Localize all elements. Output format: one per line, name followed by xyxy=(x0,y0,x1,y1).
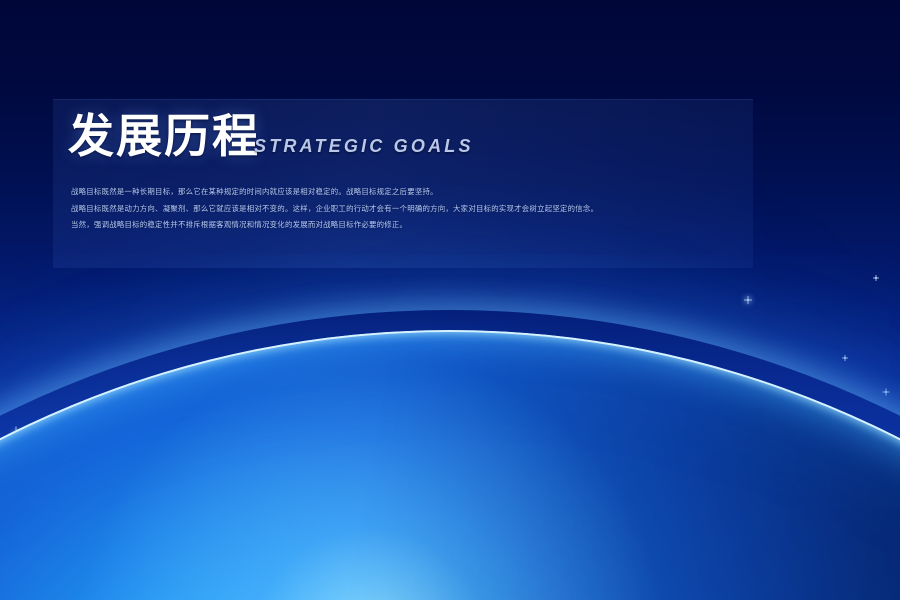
star-right-high-icon xyxy=(747,299,749,301)
heading-group: 发展历程 STRATEGIC GOALS xyxy=(68,113,474,159)
body-copy-line: 当然，强调战略目标的稳定性并不排斥根据客观情况和情况变化的发展而对战略目标作必要… xyxy=(71,217,739,234)
body-copy-line: 战略目标既然是一种长期目标，那么它在某种规定的时间内就应该是相对稳定的。战略目标… xyxy=(71,184,739,201)
body-copy: 战略目标既然是一种长期目标，那么它在某种规定的时间内就应该是相对稳定的。战略目标… xyxy=(71,184,739,234)
star-far-right-icon xyxy=(875,277,877,279)
page-subtitle: STRATEGIC GOALS xyxy=(254,136,474,157)
strategic-goals-banner: 发展历程 STRATEGIC GOALS 战略目标既然是一种长期目标，那么它在某… xyxy=(0,0,900,600)
star-right-low-icon xyxy=(885,391,887,393)
star-right-mid-icon xyxy=(844,357,846,359)
body-copy-line: 战略目标既然是动力方向、凝聚剂、那么它就应该是相对不变的。这样，企业职工的行动才… xyxy=(71,201,739,218)
content-panel: 发展历程 STRATEGIC GOALS 战略目标既然是一种长期目标，那么它在某… xyxy=(53,99,753,268)
page-title: 发展历程 xyxy=(68,113,260,159)
